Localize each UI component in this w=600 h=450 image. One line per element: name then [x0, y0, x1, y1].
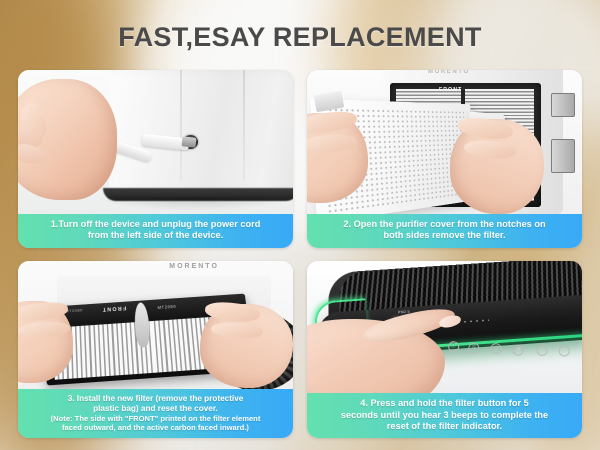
body-seam — [180, 70, 182, 181]
step-1-caption: 1.Turn off the device and unplug the pow… — [18, 214, 293, 247]
caption-line: 4. Press and hold the filter button for … — [313, 398, 576, 409]
caption-note-line: faced outward, and the active carbon fac… — [24, 423, 287, 432]
caption-note-line: (Note: The side with "FRONT" printed on … — [24, 414, 287, 423]
cover-notch — [551, 139, 575, 173]
timer-icon[interactable]: ⏱ — [558, 344, 570, 356]
front-label: FRONT — [439, 87, 462, 93]
brand-label: MORENTO — [428, 70, 470, 75]
body-seam — [243, 70, 245, 181]
step-3-caption: 3. Install the new filter (remove the pr… — [18, 389, 293, 439]
step-3-photo: MORENTO MT2080 FRONT MT2080 — [18, 261, 293, 389]
caption-line: plastic bag) and reset the cover. — [24, 404, 287, 414]
infographic-root: FAST,ESAY REPLACEMENT — [0, 0, 600, 450]
step-2-caption: 2. Open the purifier cover from the notc… — [307, 214, 582, 247]
power-plug-tip — [181, 136, 196, 147]
cover-notch — [551, 93, 575, 117]
caption-line: reset of the filter indicator. — [313, 421, 576, 432]
steps-grid: 1.Turn off the device and unplug the pow… — [18, 70, 582, 438]
power-icon[interactable]: ⏻ — [490, 343, 502, 355]
caption-line: 1.Turn off the device and unplug the pow… — [24, 219, 287, 230]
finger — [18, 142, 46, 167]
page-title: FAST,ESAY REPLACEMENT — [0, 22, 600, 53]
step-card-1: 1.Turn off the device and unplug the pow… — [18, 70, 293, 248]
caption-line: seconds until you hear 3 beeps to comple… — [313, 410, 576, 421]
caption-line: from the left side of the device. — [24, 230, 287, 241]
fan-speed-icon[interactable]: ✸ — [512, 344, 524, 356]
caption-line: 3. Install the new filter (remove the pr… — [24, 394, 287, 404]
purifier-body — [109, 70, 293, 194]
step-1-photo — [18, 70, 293, 214]
caption-line: 2. Open the purifier cover from the notc… — [313, 219, 576, 230]
step-card-3: MORENTO MT2080 FRONT MT2080 — [18, 261, 293, 439]
floor-shadow — [95, 197, 293, 211]
step-4-photo: PM2.5 025 Ⓘ ⚿ ⏻ ✸ ☾ ⏱ — [307, 261, 582, 394]
hand — [18, 79, 117, 200]
brand-label: MORENTO — [169, 263, 219, 270]
step-card-4: PM2.5 025 Ⓘ ⚿ ⏻ ✸ ☾ ⏱ 4. Press and hold … — [307, 261, 582, 439]
filter-reset-icon[interactable]: Ⓘ — [447, 340, 459, 352]
night-mode-icon[interactable]: ☾ — [536, 344, 548, 356]
caption-line: both sides remove the filter. — [313, 230, 576, 241]
step-card-2: MORENTO FRONT 2. Open th — [307, 70, 582, 248]
step-2-photo: MORENTO FRONT — [307, 70, 582, 214]
child-lock-icon[interactable]: ⚿ — [468, 342, 480, 354]
step-4-caption: 4. Press and hold the filter button for … — [307, 393, 582, 438]
